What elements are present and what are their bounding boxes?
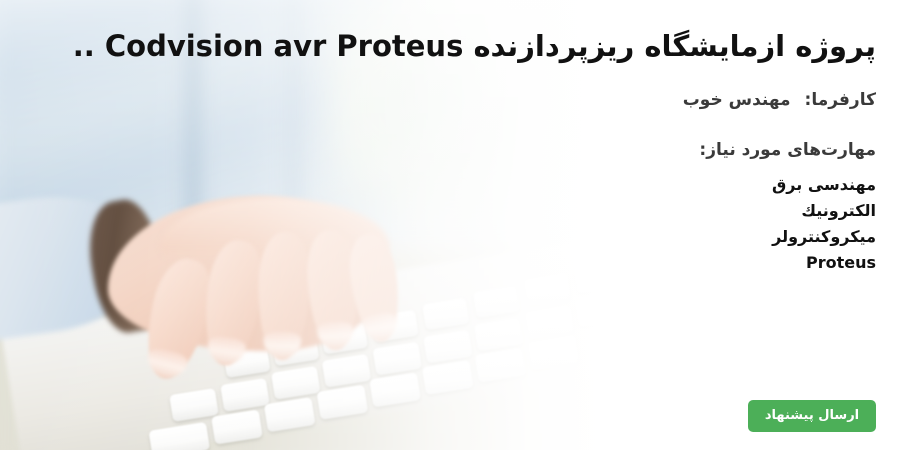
skills-list: مهندسی برق الکترونیك میکروکنترولر Proteu…: [20, 172, 876, 276]
card-content: پروژه ازمایشگاه ریزپردازنده Codvision av…: [0, 0, 900, 450]
list-item: میکروکنترولر: [20, 224, 876, 250]
list-item: مهندسی برق: [20, 172, 876, 198]
employer-label: کارفرما:: [805, 90, 876, 110]
employer-row: کارفرما: مهندس خوب: [20, 90, 876, 110]
employer-name: مهندس خوب: [683, 90, 791, 110]
project-card: پروژه ازمایشگاه ریزپردازنده Codvision av…: [0, 0, 900, 450]
submit-proposal-button[interactable]: ارسال پیشنهاد: [748, 400, 876, 432]
page-title: پروژه ازمایشگاه ریزپردازنده Codvision av…: [20, 28, 876, 66]
skills-heading: مهارت‌های مورد نیاز:: [20, 140, 876, 160]
list-item: Proteus: [20, 250, 876, 276]
list-item: الکترونیك: [20, 198, 876, 224]
